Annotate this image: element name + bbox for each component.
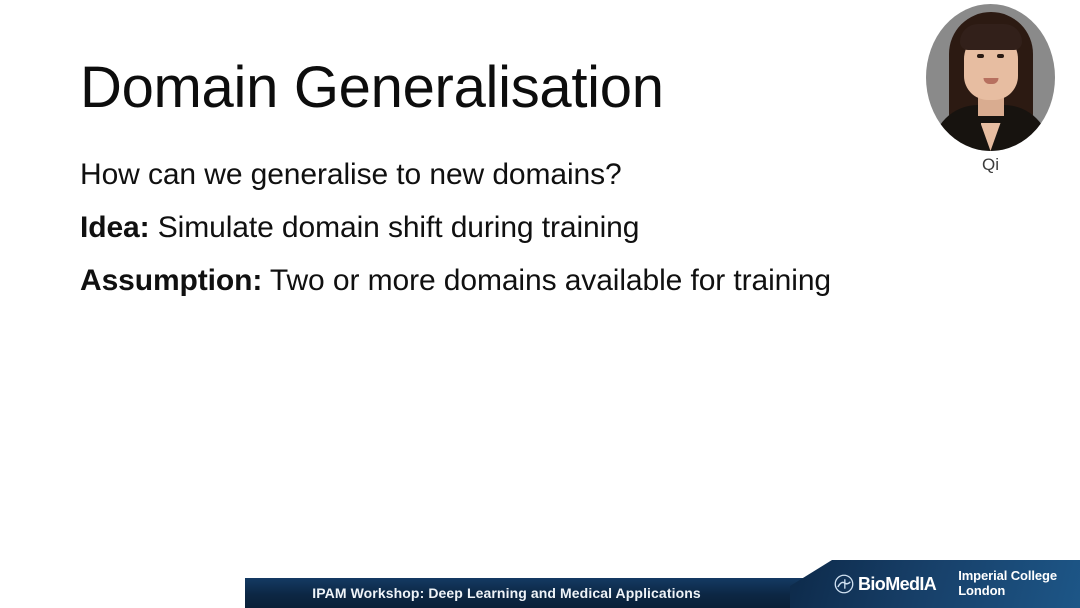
body-line-text: Simulate domain shift during training bbox=[150, 211, 640, 244]
biomedia-logo: BioMedIA bbox=[834, 574, 936, 595]
presenter-thumbnail[interactable]: Qi bbox=[926, 4, 1055, 175]
presentation-slide: Domain Generalisation How can we general… bbox=[0, 0, 1080, 608]
imperial-line-2: London bbox=[958, 584, 1057, 599]
page-title: Domain Generalisation bbox=[80, 58, 664, 119]
body-line-assumption: Assumption: Two or more domains availabl… bbox=[80, 266, 910, 296]
footer-bar: IPAM Workshop: Deep Learning and Medical… bbox=[245, 578, 830, 608]
body-line-lead: Assumption: bbox=[80, 264, 262, 297]
body-line-idea: Idea: Simulate domain shift during train… bbox=[80, 213, 910, 243]
presenter-name-label: Qi bbox=[926, 155, 1055, 175]
biomedia-circle-icon bbox=[834, 574, 854, 594]
avatar-eye-left-icon bbox=[977, 54, 984, 58]
avatar-fringe-icon bbox=[960, 24, 1022, 50]
avatar[interactable] bbox=[926, 4, 1055, 151]
footer-event-title: IPAM Workshop: Deep Learning and Medical… bbox=[245, 585, 830, 601]
biomedia-wordmark: BioMedIA bbox=[858, 574, 936, 595]
footer-logo-panel: BioMedIA Imperial College London bbox=[790, 560, 1080, 608]
imperial-college-logo: Imperial College London bbox=[958, 569, 1057, 598]
body-line-lead: Idea: bbox=[80, 211, 150, 244]
body-line-question: How can we generalise to new domains? bbox=[80, 160, 910, 190]
imperial-line-1: Imperial College bbox=[958, 569, 1057, 584]
slide-body: How can we generalise to new domains? Id… bbox=[80, 160, 910, 319]
body-line-text: How can we generalise to new domains? bbox=[80, 158, 622, 191]
avatar-eye-right-icon bbox=[997, 54, 1004, 58]
body-line-text: Two or more domains available for traini… bbox=[262, 264, 831, 297]
